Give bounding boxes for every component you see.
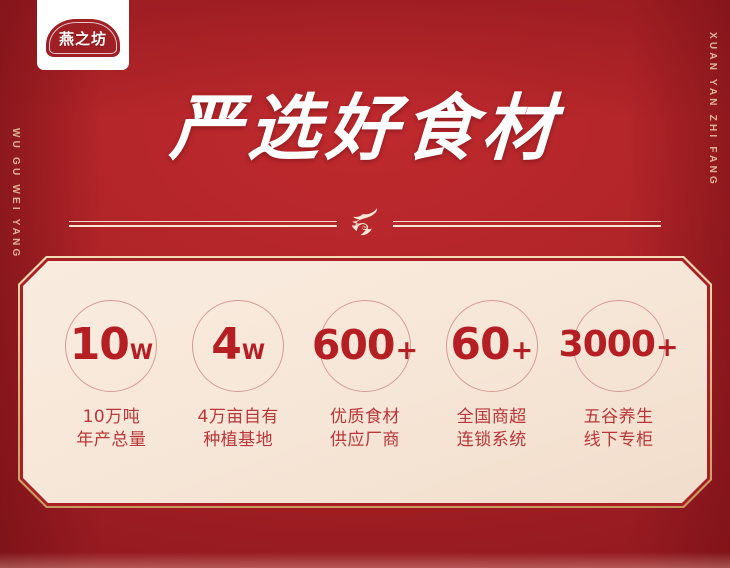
stat-label: 10万吨 年产总量 [76,406,146,453]
divider-line-thick [393,225,661,228]
stat-label-line1: 五谷养生 [584,406,654,429]
divider-line-thin [393,221,661,223]
stat-number-group: 600 + [320,325,410,366]
stat-label-line1: 10万吨 [76,406,146,429]
logo-seal-shape: 燕之坊 [46,19,120,57]
stat-number: 60 [450,323,509,367]
divider-line-thin [69,221,337,223]
stat-label-line1: 4万亩自有 [198,406,279,429]
decorative-divider [0,206,730,242]
stat-label-line1: 全国商超 [457,406,527,429]
stats-card: 10 W 10万吨 年产总量 4 W 4万亩自有 [18,256,712,508]
stat-label-line2: 连锁系统 [457,429,527,452]
stat-circle: 4 W [192,300,284,392]
stat-label-line1: 优质食材 [330,406,400,429]
swallow-bird-icon [347,206,383,242]
logo-text: 燕之坊 [59,30,107,47]
stat-label-line2: 供应厂商 [330,429,400,452]
brand-logo: 燕之坊 [37,0,129,70]
stat-label: 全国商超 连锁系统 [457,406,527,453]
stat-item-suppliers: 600 + 优质食材 供应厂商 [302,300,429,453]
stat-suffix: + [511,337,534,364]
stat-number: 4 [211,323,241,367]
stat-suffix: + [656,334,679,361]
stat-suffix: W [242,342,265,363]
stat-circle: 600 + [319,300,411,392]
stat-label-line2: 线下专柜 [584,429,654,452]
stat-number-group: 3000 + [574,327,664,363]
divider-line-thick [69,225,337,228]
stat-label: 优质食材 供应厂商 [330,406,400,453]
page-title: 严选好食材 [0,92,730,164]
stats-row: 10 W 10万吨 年产总量 4 W 4万亩自有 [18,256,712,508]
stat-number-group: 4 W [193,323,283,367]
stat-label: 五谷养生 线下专柜 [584,406,654,453]
stat-suffix: + [395,337,418,364]
stat-item-annual-output: 10 W 10万吨 年产总量 [48,300,175,453]
stat-number: 3000 [559,327,655,363]
stat-number: 600 [312,325,395,366]
stat-number-group: 60 + [447,323,537,367]
divider-rule-left [69,221,337,228]
stat-label: 4万亩自有 种植基地 [198,406,279,453]
stat-item-planting-base: 4 W 4万亩自有 种植基地 [175,300,302,453]
stat-suffix: W [130,342,153,363]
stat-label-line2: 年产总量 [76,429,146,452]
stat-circle: 10 W [65,300,157,392]
stat-item-offline-counters: 3000 + 五谷养生 线下专柜 [555,300,682,453]
divider-rule-right [393,221,661,228]
promo-banner: 燕之坊 WU GU WEI YANG XUAN YAN ZHI FANG 严选好… [0,0,730,568]
background-bottom-glow [0,552,730,568]
stat-item-chain-systems: 60 + 全国商超 连锁系统 [428,300,555,453]
stat-circle: 60 + [446,300,538,392]
stat-number-group: 10 W [66,323,156,367]
stat-number: 10 [70,323,129,367]
stat-circle: 3000 + [573,300,665,392]
stat-label-line2: 种植基地 [198,429,279,452]
